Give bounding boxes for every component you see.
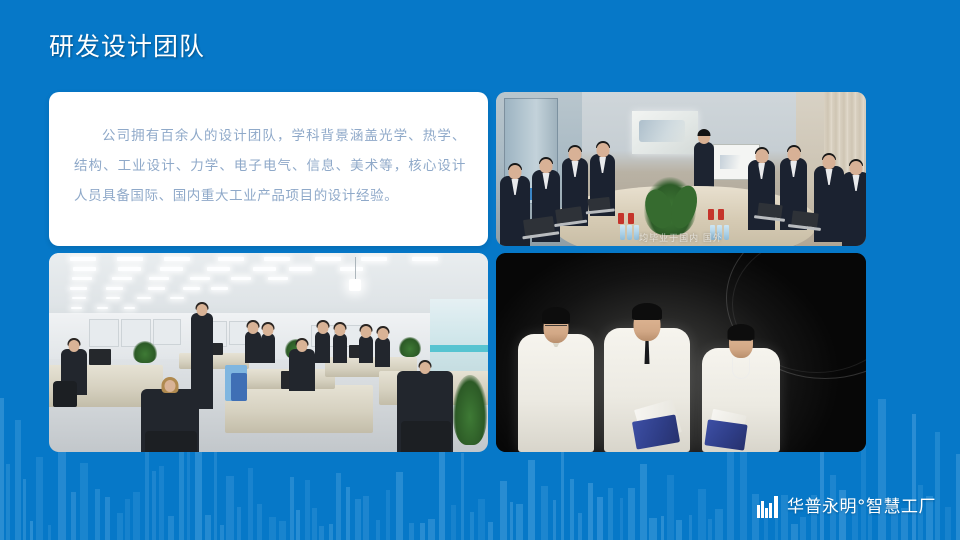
decorative-bar	[214, 450, 217, 540]
decorative-bar	[570, 479, 574, 540]
table-plant	[644, 177, 696, 235]
lab-coat	[518, 334, 594, 452]
office-worker	[359, 335, 373, 363]
ceiling-light	[412, 257, 438, 261]
decorative-bar	[597, 497, 603, 540]
presenter-hair	[698, 129, 711, 136]
attendee-head	[540, 159, 553, 173]
ceiling-light	[207, 267, 230, 271]
worker-head	[263, 324, 274, 336]
computer-monitor	[89, 349, 111, 365]
photo-open-office	[49, 253, 488, 452]
decorative-bar	[187, 446, 190, 540]
ceiling-light	[183, 287, 200, 290]
worker-head	[335, 324, 346, 336]
ceiling-light	[112, 277, 132, 280]
ceiling-light	[253, 267, 276, 271]
decorative-bar	[329, 524, 333, 540]
decorative-bar	[516, 504, 523, 540]
decorative-bar	[312, 508, 317, 540]
ceiling-light	[70, 257, 96, 261]
decorative-bar	[620, 498, 623, 540]
decorative-bar	[649, 518, 657, 540]
decorative-bar	[553, 500, 556, 540]
office-cabinet	[89, 319, 119, 347]
decorative-bar	[470, 512, 474, 540]
worker-head	[297, 340, 308, 352]
description-text: 公司拥有百余人的设计团队，学科背景涵盖光学、热学、结构、工业设计、力学、电子电气…	[74, 121, 466, 211]
red-cup	[618, 213, 624, 224]
decorative-bar	[279, 521, 286, 540]
decorative-bar	[386, 490, 390, 540]
decorative-bar	[510, 502, 513, 540]
lab-lanyard	[732, 358, 750, 379]
decorative-bar	[578, 513, 582, 540]
decorative-bar	[935, 432, 940, 540]
decorative-bar	[409, 523, 414, 540]
laptop	[791, 210, 819, 227]
decorative-bar	[237, 507, 241, 540]
red-cup	[708, 209, 714, 220]
decorative-bar	[488, 522, 493, 540]
decorative-bar	[667, 475, 674, 540]
photo-meeting-room-image: 均毕业于国内 国外	[496, 92, 866, 246]
attendee-shirt	[758, 163, 765, 179]
ceiling-light	[73, 267, 96, 271]
office-cabinet	[153, 319, 181, 345]
decorative-bar	[715, 509, 723, 540]
office-worker	[261, 333, 275, 363]
decorative-bar	[588, 483, 593, 540]
worker-head	[377, 328, 388, 340]
ceiling-light	[361, 257, 387, 261]
decorative-bar	[319, 526, 324, 540]
lab-hair	[542, 307, 570, 324]
decorative-bar	[296, 510, 300, 540]
office-worker	[289, 349, 315, 391]
slide-canvas: 研发设计团队 公司拥有百余人的设计团队，学科背景涵盖光学、热学、结构、工业设计、…	[0, 0, 960, 540]
decorative-bar	[541, 486, 548, 540]
photo-meeting-room: 均毕业于国内 国外	[496, 92, 866, 246]
decorative-bar	[305, 480, 310, 540]
decorative-bar	[290, 477, 294, 540]
decorative-bar	[248, 468, 253, 540]
laptop	[555, 206, 583, 223]
decorative-bar	[363, 496, 369, 540]
office-worker	[315, 331, 330, 363]
decorative-bar	[105, 497, 110, 540]
decorative-bar	[912, 414, 916, 540]
photo-lab-inspection	[496, 253, 866, 452]
decorative-bar	[36, 457, 43, 540]
decorative-bar	[220, 525, 224, 540]
decorative-bar	[861, 442, 866, 540]
laptop	[757, 203, 782, 219]
decorative-bar	[689, 515, 692, 540]
ceiling-light	[211, 287, 228, 290]
meeting-presenter	[694, 142, 714, 188]
decorative-bar	[226, 476, 234, 540]
decorative-bar	[428, 519, 435, 540]
lab-engineer-left	[518, 312, 594, 452]
photo-lab-inspection-image	[496, 253, 866, 452]
decorative-bar	[30, 521, 33, 540]
worker-head	[197, 304, 208, 316]
worker-head	[317, 322, 328, 334]
decorative-bar	[791, 524, 798, 540]
ceiling-light	[70, 287, 87, 290]
worker-head	[248, 322, 259, 334]
decorative-bar	[708, 519, 712, 540]
decorative-bar	[775, 515, 778, 540]
laptop	[587, 197, 610, 211]
ceiling-light	[164, 257, 190, 261]
projection-screen	[632, 111, 698, 154]
decorative-bar	[640, 464, 647, 540]
office-chair	[145, 431, 197, 452]
ceiling-light	[148, 287, 165, 290]
decorative-bar	[727, 450, 734, 540]
attendee-shirt	[572, 161, 579, 177]
attendee-shirt	[826, 169, 833, 185]
decorative-bar	[698, 489, 706, 540]
decorative-bar	[478, 499, 485, 540]
equalizer-bars-icon	[757, 496, 781, 518]
decorative-bar	[676, 520, 682, 540]
decorative-bar	[15, 420, 21, 540]
pendant-light	[349, 279, 361, 291]
decorative-bar	[205, 515, 211, 540]
decorative-bar	[48, 525, 51, 540]
decorative-bar	[257, 504, 262, 540]
ceiling-light	[268, 277, 288, 280]
ceiling-light	[149, 277, 169, 280]
decorative-bar	[396, 472, 403, 540]
attendee-head	[787, 147, 800, 161]
decorative-bar	[6, 464, 10, 540]
lab-folder	[704, 419, 747, 450]
decorative-bar	[355, 499, 361, 540]
attendee-head	[755, 149, 768, 163]
office-worker	[333, 333, 347, 363]
lab-engineer-center	[604, 302, 690, 452]
ceiling-light	[71, 307, 82, 309]
decorative-bar	[346, 487, 350, 540]
decorative-bar	[125, 499, 130, 540]
office-desk	[225, 385, 373, 433]
attendee-head	[509, 165, 522, 179]
decorative-bar	[628, 488, 635, 540]
decorative-bar	[451, 505, 456, 540]
decorative-bar	[0, 398, 4, 540]
brand-logo-text: 华普永明°智慧工厂	[787, 497, 936, 517]
ceiling-light	[106, 287, 123, 290]
worker-head	[69, 340, 80, 352]
ceiling-light	[218, 257, 244, 261]
ceiling-light	[97, 307, 108, 309]
ceiling-light	[160, 267, 183, 271]
ceiling-light	[72, 277, 92, 280]
lab-engineer-right	[702, 324, 780, 452]
decorative-bar	[159, 466, 164, 540]
lab-glasses-icon	[731, 340, 752, 345]
decorative-bar	[420, 523, 425, 540]
lab-hair	[728, 324, 755, 340]
lab-glasses-icon	[545, 325, 567, 330]
red-cup	[628, 213, 634, 224]
ceiling-light	[289, 267, 312, 271]
decorative-bar	[608, 488, 613, 540]
office-chair	[53, 381, 77, 407]
office-plant	[453, 375, 487, 445]
office-box	[231, 373, 247, 401]
decorative-bar	[956, 454, 960, 540]
office-plant	[133, 341, 157, 363]
decorative-bar	[269, 517, 276, 540]
decorative-bar	[80, 463, 88, 540]
decorative-bar	[133, 492, 140, 540]
decorative-bar	[878, 399, 886, 540]
decorative-bar	[800, 517, 806, 540]
office-plant	[399, 337, 421, 357]
decorative-bar	[945, 507, 951, 540]
decorative-bar	[661, 516, 664, 540]
photo-caption: 均毕业于国内 国外	[496, 231, 866, 244]
worker-head	[420, 362, 431, 374]
ceiling-light	[118, 267, 141, 271]
lab-hair	[632, 303, 662, 320]
decorative-bar	[500, 481, 507, 540]
decorative-bar	[152, 471, 156, 540]
attendee-head	[823, 155, 836, 169]
decorative-bar	[71, 492, 76, 540]
ceiling-light	[117, 257, 143, 261]
ceiling-light	[124, 307, 135, 309]
attendee-shirt	[599, 157, 606, 173]
photo-open-office-image	[49, 253, 488, 452]
decorative-bar	[461, 453, 464, 540]
decorative-bar	[376, 520, 380, 540]
decorative-bar	[23, 479, 26, 540]
attendee-shirt	[790, 161, 797, 177]
ceiling-light	[315, 257, 341, 261]
worker-head	[361, 326, 372, 338]
worker-head	[165, 380, 176, 392]
decorative-bar	[764, 518, 768, 540]
brand-logo: 华普永明°智慧工厂	[757, 496, 936, 518]
ceiling-light	[231, 277, 251, 280]
attendee-shirt	[512, 179, 519, 195]
decorative-bar	[528, 460, 535, 540]
office-chair	[401, 421, 451, 452]
attendee-shirt	[853, 175, 860, 191]
office-worker	[245, 331, 261, 363]
decorative-bar	[336, 473, 341, 540]
ceiling-light	[264, 257, 290, 261]
attendee-shirt	[543, 173, 550, 189]
office-worker	[375, 337, 390, 367]
decorative-bar	[168, 516, 174, 540]
decorative-bar	[95, 489, 100, 540]
ceiling-light	[190, 277, 210, 280]
attendee-head	[850, 161, 863, 175]
decorative-bar	[117, 513, 123, 540]
page-title: 研发设计团队	[49, 30, 205, 64]
red-cup	[718, 209, 724, 220]
description-card: 公司拥有百余人的设计团队，学科背景涵盖光学、热学、结构、工业设计、力学、电子电气…	[49, 92, 488, 246]
attendee-head	[596, 143, 609, 157]
ceiling-light	[340, 267, 363, 271]
attendee-head	[569, 147, 582, 161]
